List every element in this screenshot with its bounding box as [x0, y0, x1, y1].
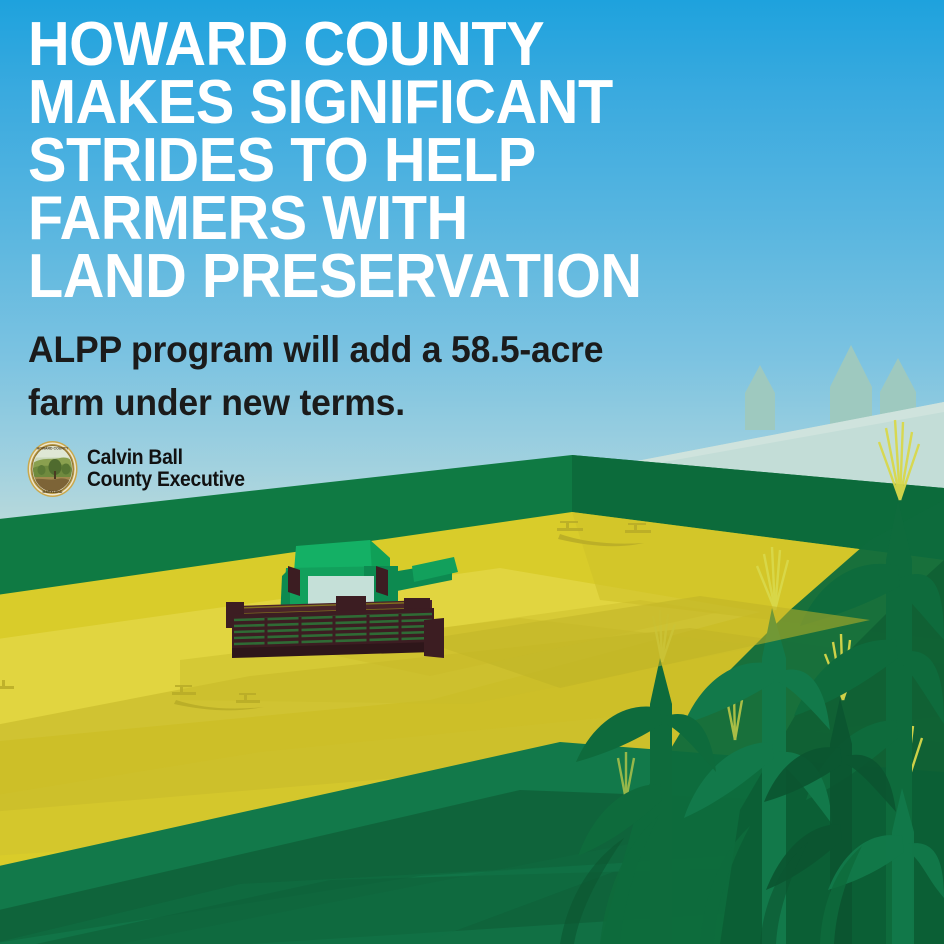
- headline-line-1: HOWARD COUNTY: [28, 16, 763, 74]
- logo-lockup: HOWARD COUNTY MARYLAND Calvin Ball Count…: [25, 440, 258, 498]
- subheadline-line-2: farm under new terms.: [28, 377, 700, 430]
- combine-wheel-right: [424, 618, 444, 658]
- headline-line-3: STRIDES TO HELP: [28, 132, 763, 190]
- subheadline: ALPP program will add a 58.5-acre farm u…: [28, 324, 700, 430]
- howard-county-seal-icon: HOWARD COUNTY MARYLAND: [25, 440, 80, 498]
- executive-title: County Executive: [87, 469, 245, 491]
- headline-line-4: FARMERS WITH: [28, 190, 763, 248]
- executive-name: Calvin Ball: [87, 447, 245, 469]
- headline-line-5: LAND PRESERVATION: [28, 248, 763, 306]
- poster-canvas: HOWARD COUNTY MAKES SIGNIFICANT STRIDES …: [0, 0, 944, 944]
- headline: HOWARD COUNTY MAKES SIGNIFICANT STRIDES …: [28, 16, 763, 306]
- combine-mirror-left: [288, 566, 300, 596]
- seal-bottom-text: MARYLAND: [43, 490, 63, 494]
- seal-top-text: HOWARD COUNTY: [37, 447, 69, 451]
- headline-line-2: MAKES SIGNIFICANT: [28, 74, 763, 132]
- subheadline-line-1: ALPP program will add a 58.5-acre: [28, 324, 700, 377]
- combine-mirror-right: [376, 566, 388, 596]
- logo-text-block: Calvin Ball County Executive: [87, 447, 245, 492]
